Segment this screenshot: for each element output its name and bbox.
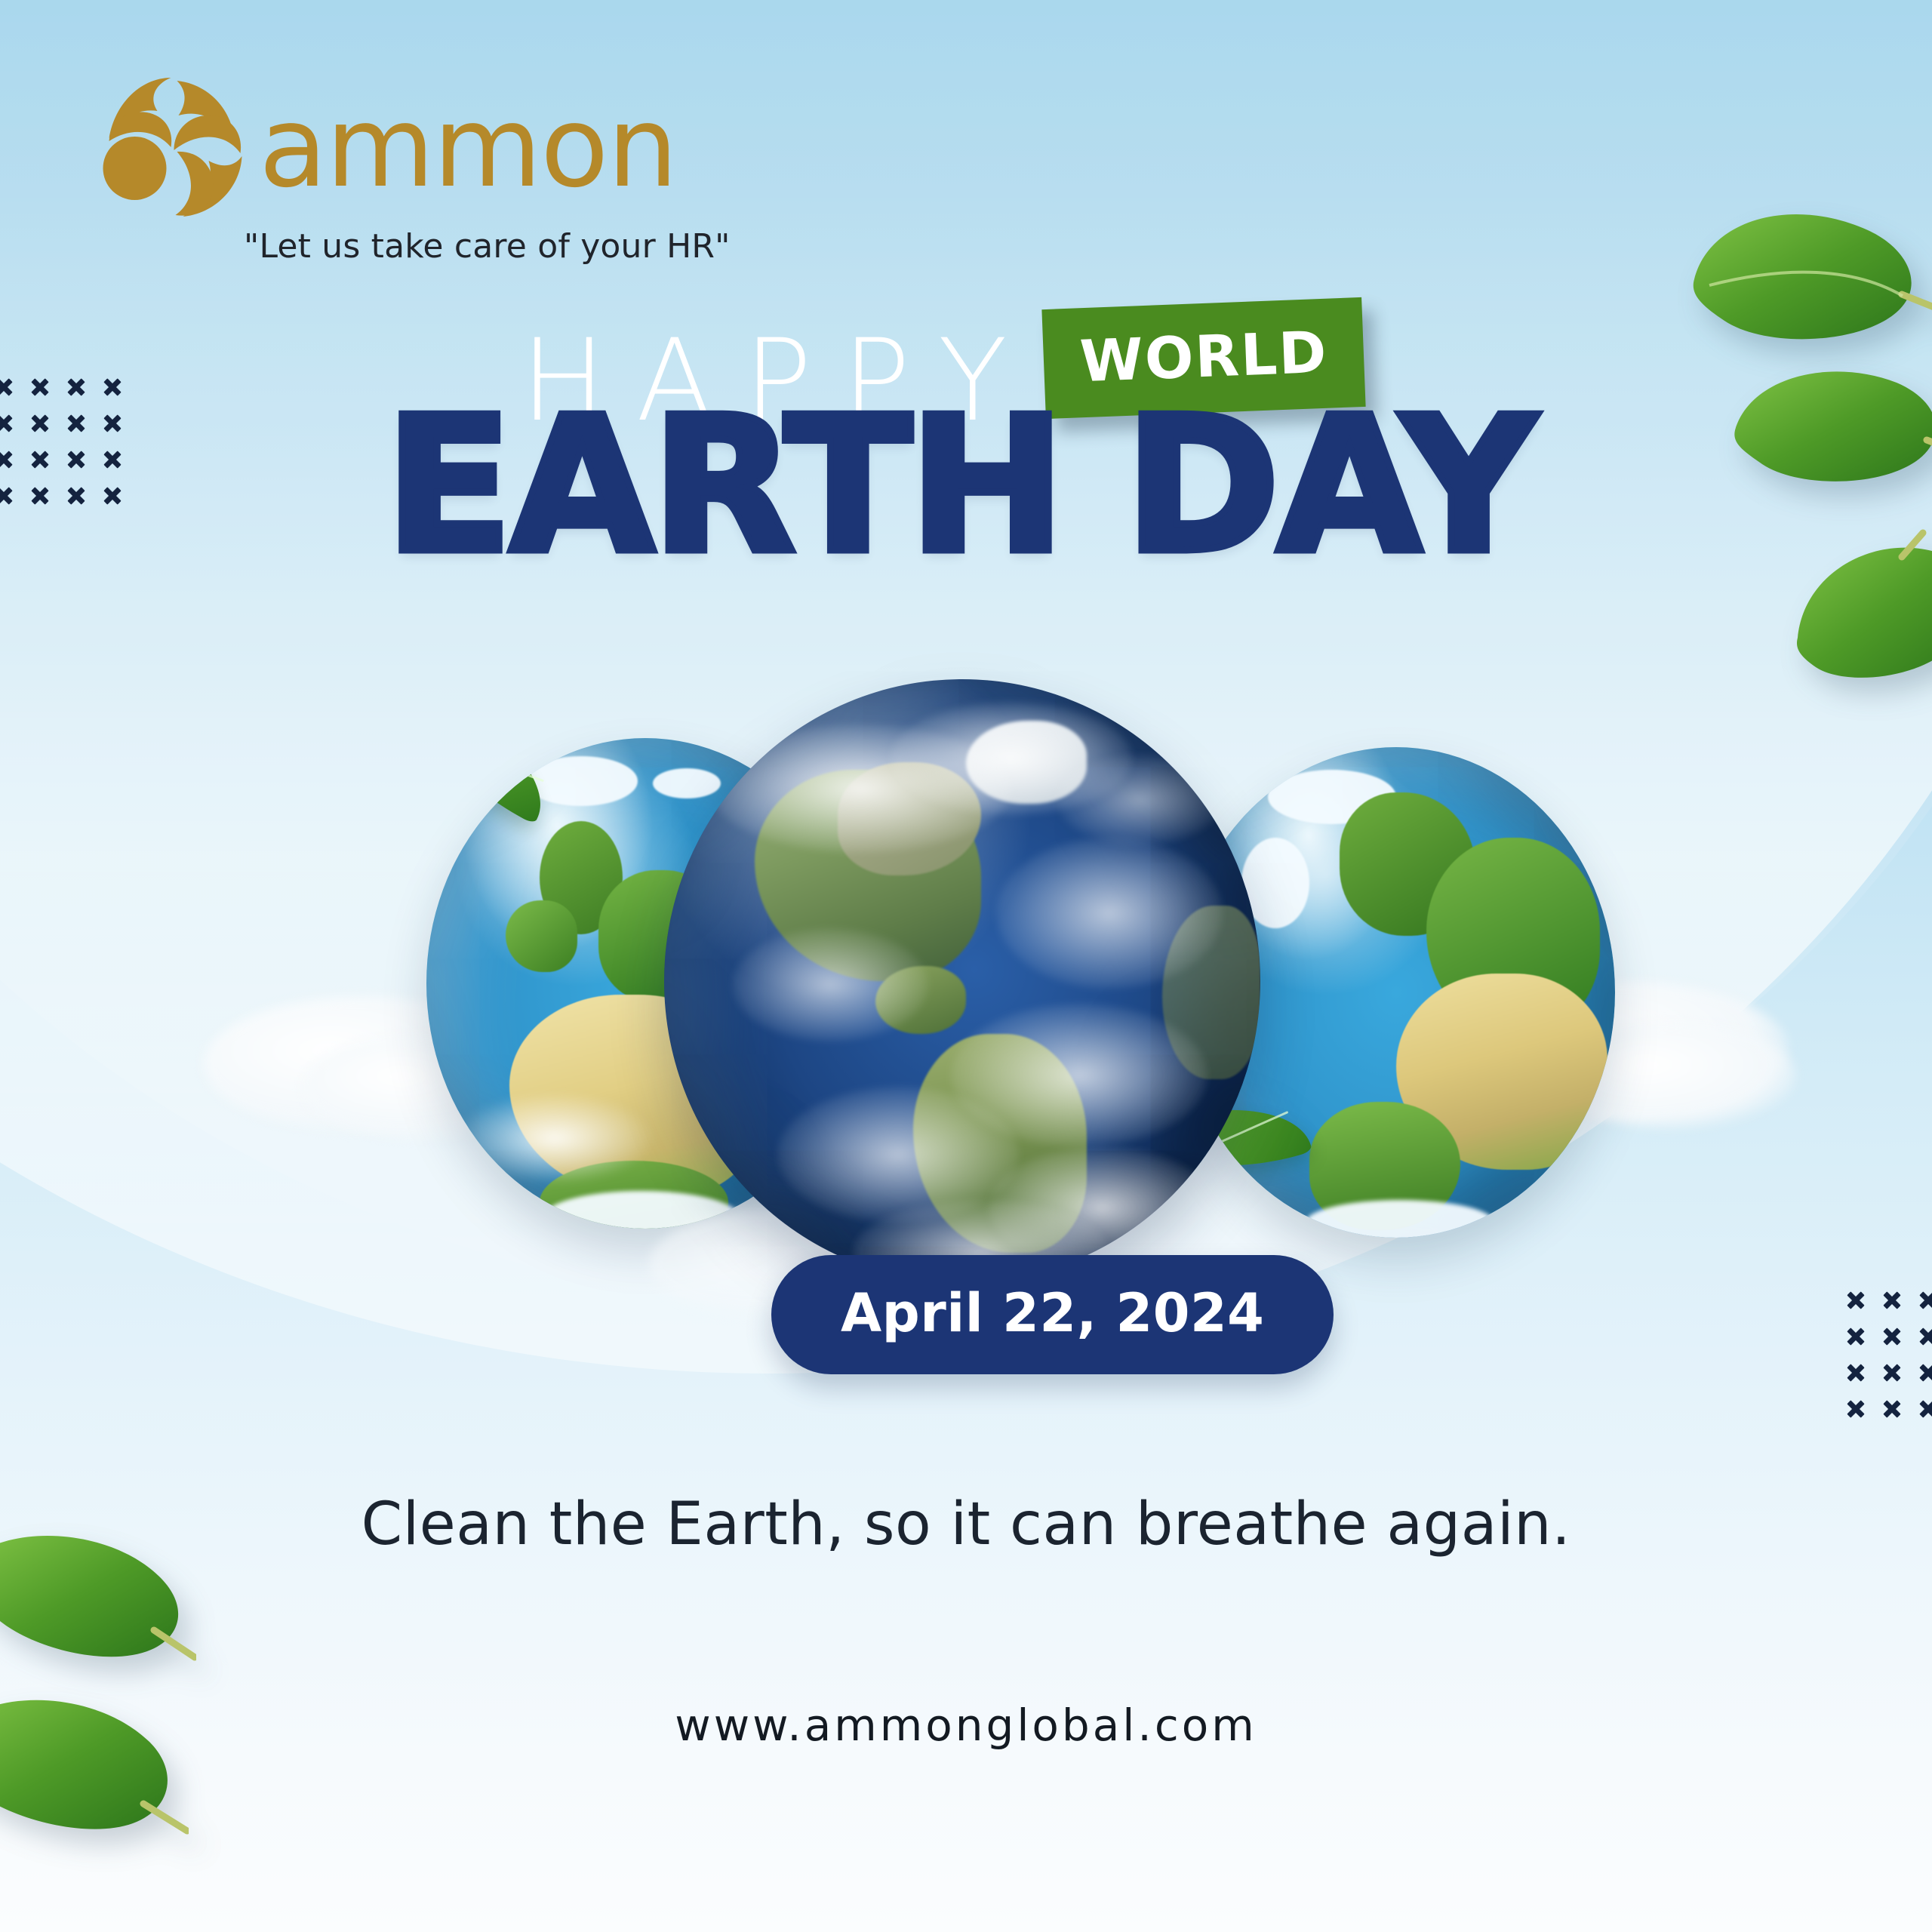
website-url[interactable]: www.ammonglobal.com xyxy=(0,1700,1932,1751)
leaf-icon xyxy=(1789,528,1932,702)
brand-logo[interactable]: ammon "Let us take care of your HR" xyxy=(97,72,731,266)
headline-main: EARTH DAY xyxy=(385,392,1534,580)
poster-tagline: Clean the Earth, so it can breathe again… xyxy=(0,1491,1932,1558)
headline-block: HAPPY WORLD EARTH DAY xyxy=(0,325,1932,438)
earth-day-poster: ammon "Let us take care of your HR" HAPP… xyxy=(0,0,1932,1932)
brand-wordmark: ammon xyxy=(259,100,676,194)
x-dot-grid-icon xyxy=(1846,1291,1932,1419)
globe-icon xyxy=(664,679,1260,1283)
date-badge: April 22, 2024 xyxy=(771,1255,1334,1374)
leaf-icon xyxy=(0,1668,189,1857)
globe-group xyxy=(0,679,1932,1298)
ammon-swirl-logo-icon xyxy=(97,72,251,223)
brand-tagline: "Let us take care of your HR" xyxy=(244,227,731,266)
